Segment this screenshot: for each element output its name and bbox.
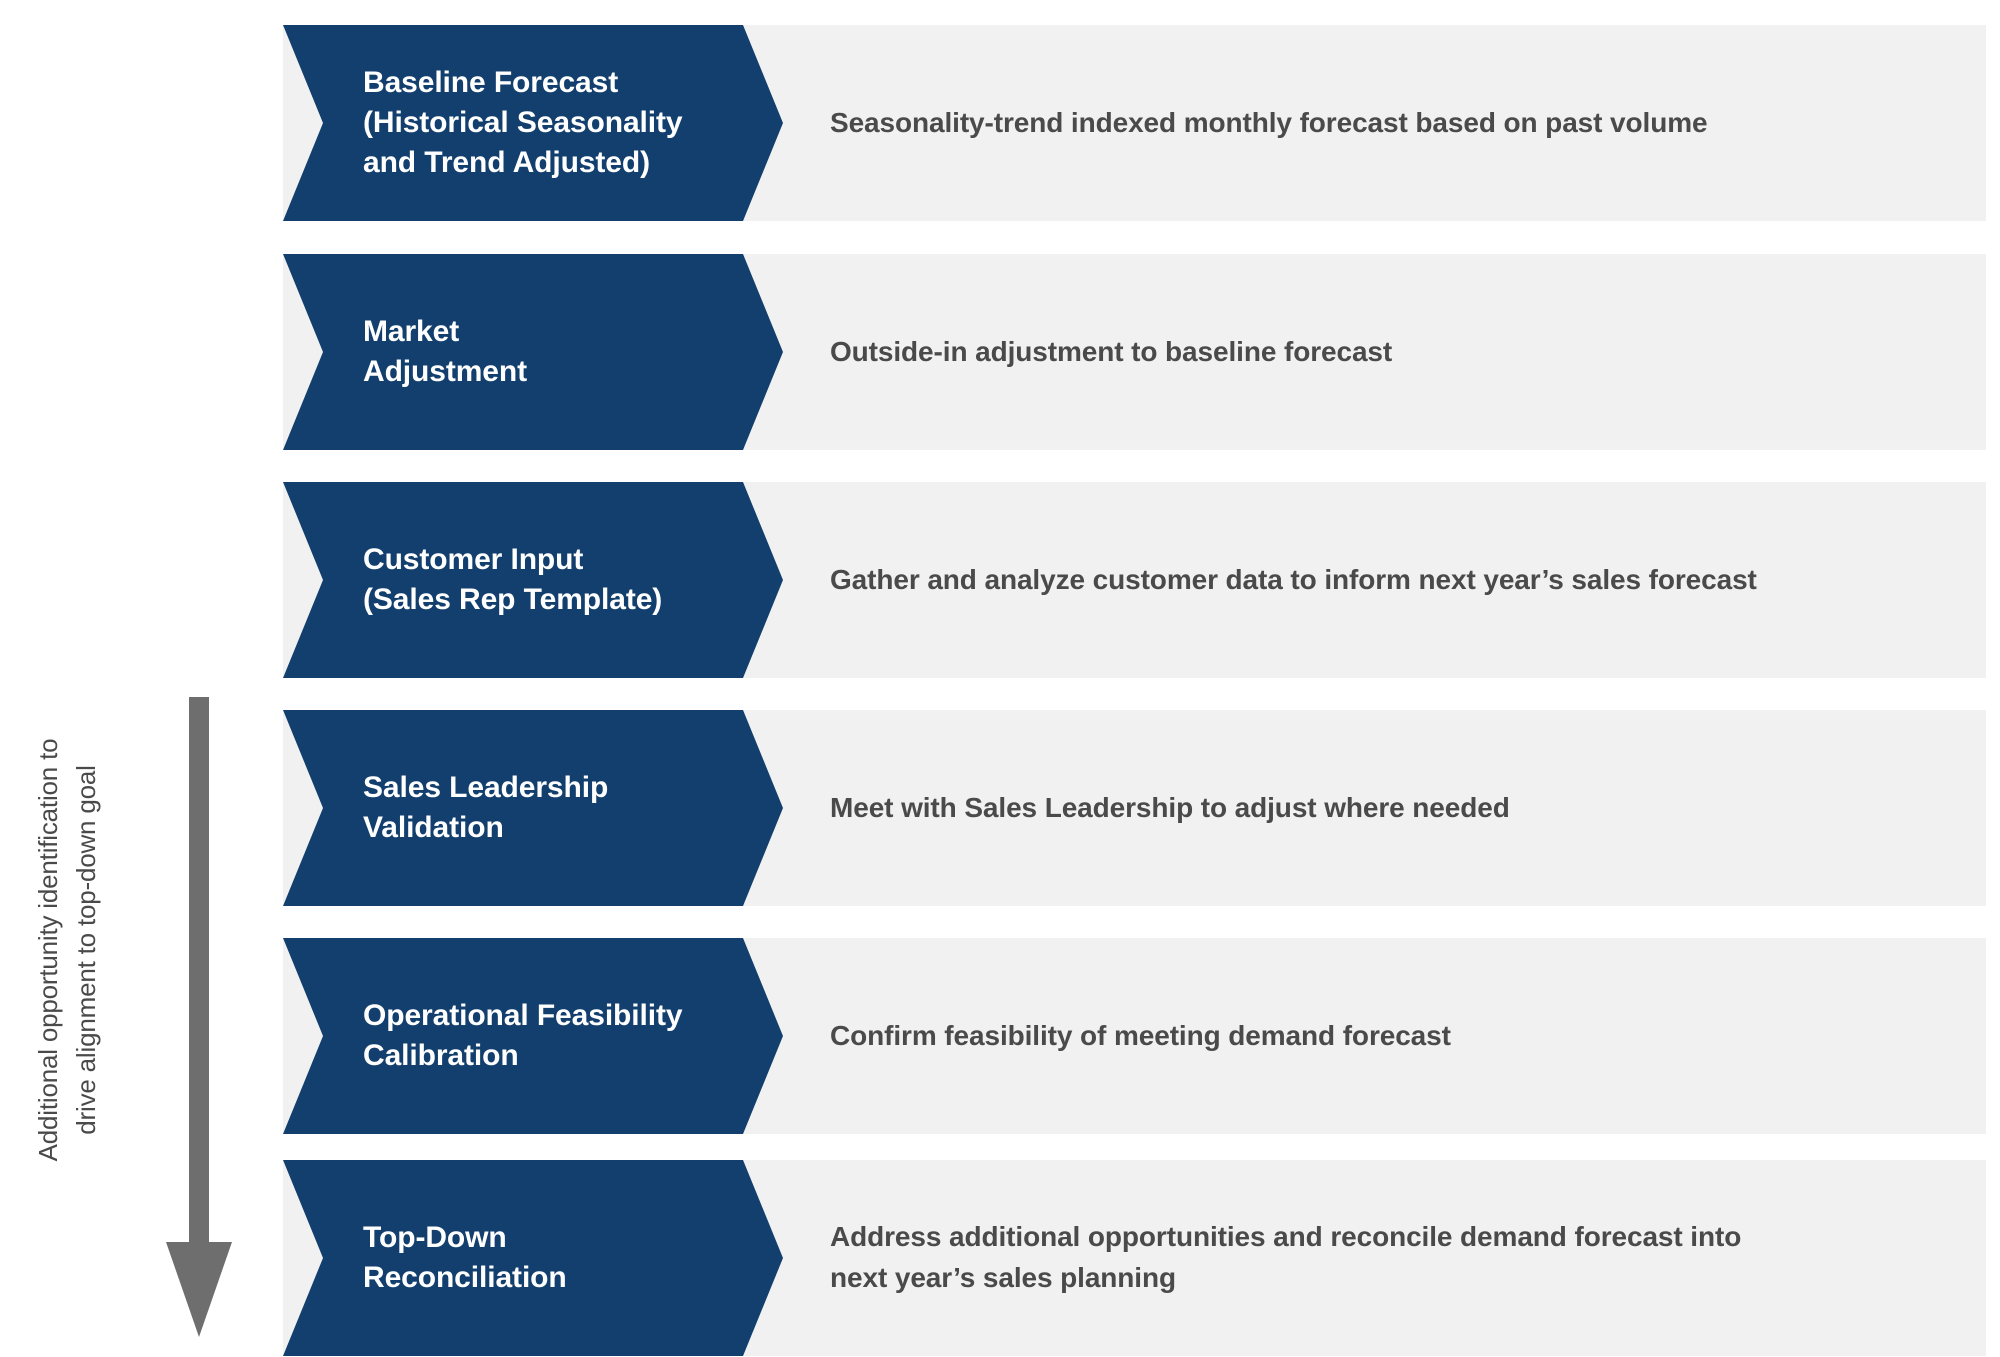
step-chevron[interactable]: Customer Input (Sales Rep Template) — [283, 482, 783, 678]
step-description: Gather and analyze customer data to info… — [830, 482, 1940, 678]
step-description: Outside-in adjustment to baseline foreca… — [830, 254, 1940, 450]
process-step-row: Customer Input (Sales Rep Template) Gath… — [0, 482, 2000, 678]
step-description: Seasonality-trend indexed monthly foreca… — [830, 25, 1940, 221]
step-label: Customer Input (Sales Rep Template) — [363, 482, 735, 678]
process-step-row: Top-Down Reconciliation Address addition… — [0, 1160, 2000, 1356]
step-label: Market Adjustment — [363, 254, 735, 450]
step-label: Operational Feasibility Calibration — [363, 938, 735, 1134]
step-chevron[interactable]: Market Adjustment — [283, 254, 783, 450]
process-step-row: Market Adjustment Outside-in adjustment … — [0, 254, 2000, 450]
step-description: Confirm feasibility of meeting demand fo… — [830, 938, 1940, 1134]
process-step-row: Operational Feasibility Calibration Conf… — [0, 938, 2000, 1134]
step-chevron[interactable]: Top-Down Reconciliation — [283, 1160, 783, 1356]
process-step-row: Baseline Forecast (Historical Seasonalit… — [0, 25, 2000, 221]
step-chevron[interactable]: Operational Feasibility Calibration — [283, 938, 783, 1134]
step-chevron[interactable]: Baseline Forecast (Historical Seasonalit… — [283, 25, 783, 221]
step-description: Meet with Sales Leadership to adjust whe… — [830, 710, 1940, 906]
process-flow-diagram: Additional opportunity identification to… — [0, 0, 2000, 1357]
step-description: Address additional opportunities and rec… — [830, 1160, 1940, 1356]
process-step-row: Sales Leadership Validation Meet with Sa… — [0, 710, 2000, 906]
step-chevron[interactable]: Sales Leadership Validation — [283, 710, 783, 906]
step-label: Top-Down Reconciliation — [363, 1160, 735, 1356]
step-label: Baseline Forecast (Historical Seasonalit… — [363, 25, 735, 221]
step-label: Sales Leadership Validation — [363, 710, 735, 906]
